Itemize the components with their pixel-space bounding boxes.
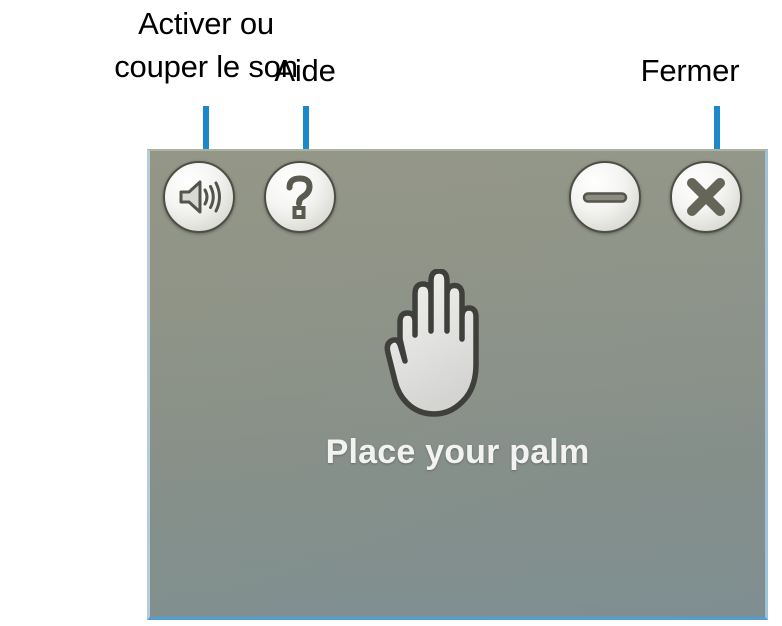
open-palm-hand-icon — [378, 269, 488, 417]
callout-label-close: Fermer — [600, 49, 780, 92]
device-panel: Place your palm — [147, 149, 768, 620]
help-button[interactable] — [264, 161, 336, 233]
close-x-icon — [683, 174, 729, 220]
sound-toggle-button[interactable] — [163, 161, 235, 233]
device-screen: Place your palm — [150, 151, 765, 617]
minimize-button[interactable] — [569, 161, 641, 233]
callout-label-help: Aide — [225, 49, 385, 92]
close-button[interactable] — [670, 161, 742, 233]
minimize-icon — [582, 190, 628, 204]
question-mark-icon — [282, 174, 318, 220]
speaker-icon — [176, 177, 222, 217]
palm-prompt-text: Place your palm — [150, 433, 765, 472]
